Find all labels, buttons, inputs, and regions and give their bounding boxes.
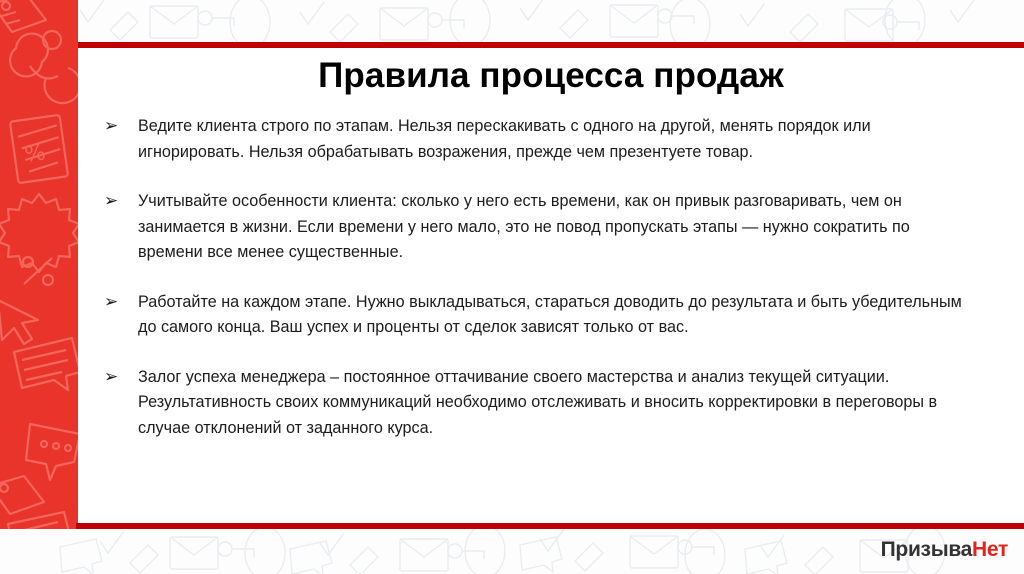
sidebar-icon-pattern: % [0,0,78,574]
brand-logo: ПризываНет [881,538,1008,562]
arrow-bullet-icon: ➢ [100,189,138,214]
bullet-text: Ведите клиента строго по этапам. Нельзя … [138,114,964,165]
bullet-text: Работайте на каждом этапе. Нужно выклады… [138,290,964,341]
logo-accent-text: Нет [972,538,1008,561]
arrow-bullet-icon: ➢ [100,365,138,390]
arrow-bullet-icon: ➢ [100,114,138,139]
slide-content: Правила процесса продаж ➢ Ведите клиента… [78,48,1024,523]
bullet-text: Учитывайте особенности клиента: сколько … [138,189,964,266]
list-item: ➢ Залог успеха менеджера – постоянное от… [100,365,964,442]
list-item: ➢ Учитывайте особенности клиента: скольк… [100,189,964,266]
left-red-sidebar: % [0,0,78,574]
list-item: ➢ Ведите клиента строго по этапам. Нельз… [100,114,964,165]
top-pattern-strip [0,0,1024,44]
arrow-bullet-icon: ➢ [100,290,138,315]
list-item: ➢ Работайте на каждом этапе. Нужно выкла… [100,290,964,341]
svg-text:%: % [23,140,47,168]
bullet-list: ➢ Ведите клиента строго по этапам. Нельз… [78,96,1024,441]
bottom-pattern-strip [0,529,1024,574]
page-title: Правила процесса продаж [78,48,1024,96]
logo-main-text: Призыва [881,538,972,561]
bullet-text: Залог успеха менеджера – постоянное отта… [138,365,964,442]
slide: % [0,0,1024,574]
